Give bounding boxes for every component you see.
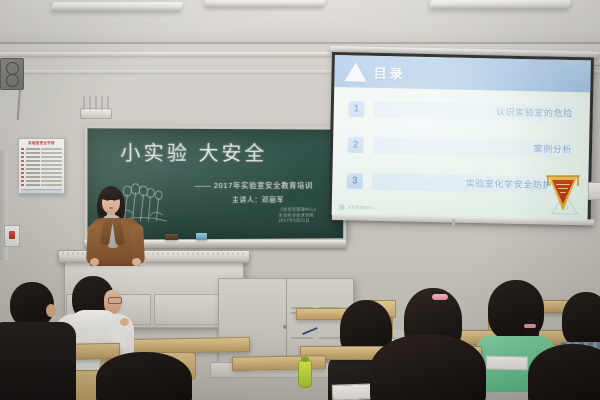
ceiling-light-1 [51, 2, 184, 11]
water-bottle[interactable] [298, 360, 312, 388]
award-pennant [546, 175, 580, 217]
blackboard-speaker: 主讲人：邓丽军 [232, 195, 284, 205]
toc-item-number: 1 [348, 100, 365, 117]
toc-item: 1 认识实验室的危险 [348, 95, 576, 126]
triangle-mountain-logo-icon [344, 62, 366, 81]
toc-item-label: 认识实验室的危险 [496, 105, 573, 120]
light-switch-plate[interactable] [588, 182, 600, 200]
slide-footer: 实验室管理中心 [339, 204, 375, 211]
ceiling-light-2 [204, 0, 326, 7]
student-front-row-2 [370, 334, 486, 400]
hair-tie [524, 324, 536, 328]
slide-footer-logo-icon [339, 204, 345, 210]
wifi-antenna-icon [78, 96, 112, 116]
slide-footer-text: 实验室管理中心 [348, 205, 375, 211]
blackboard-eraser[interactable] [165, 234, 178, 240]
ceiling-seam [0, 42, 600, 44]
blackboard-title: 小实验 大安全 [120, 143, 267, 165]
presenter [86, 186, 148, 264]
projector-screen-pull[interactable] [452, 219, 455, 226]
wall-notice-frame: 实验室安全守则 [18, 138, 65, 194]
toc-item: 2 案例分析 [347, 131, 575, 162]
student-front-row-1 [96, 352, 192, 400]
toc-item: 3 实验室化学安全防护常识 [346, 167, 574, 198]
blackboard-organization: 《实验室管理中心》 生命科学技术学院 2017年5月21日 [279, 207, 319, 224]
toc-item-label: 案例分析 [533, 142, 572, 156]
toc-item-number: 3 [346, 172, 363, 189]
emergency-switch-box[interactable] [4, 225, 20, 247]
chalk-box[interactable] [196, 233, 207, 240]
toc-item-bar: 认识实验室的危险 [374, 100, 576, 121]
student-front-row-3 [528, 344, 600, 400]
toc-item-number: 2 [347, 136, 364, 153]
toc-item-bar: 案例分析 [373, 136, 575, 157]
eyeglasses [108, 297, 122, 304]
classroom-photo: 实验室安全守则 [0, 0, 600, 400]
wall-notice-rows [21, 147, 62, 187]
toc-item-bar: 实验室化学安全防护常识 [372, 172, 574, 193]
slide-header-title: 目录 [373, 62, 405, 82]
slide-header: 目录 [334, 55, 591, 92]
student-black-shirt [0, 282, 70, 400]
notebook-paper-right[interactable] [486, 356, 528, 371]
ceiling-light-3 [429, 0, 571, 9]
wall-notice-title: 实验室安全守则 [21, 141, 62, 146]
hair-clip [432, 294, 448, 300]
blackboard-subtitle: —— 2017年实验室安全教育培训 [195, 180, 313, 191]
